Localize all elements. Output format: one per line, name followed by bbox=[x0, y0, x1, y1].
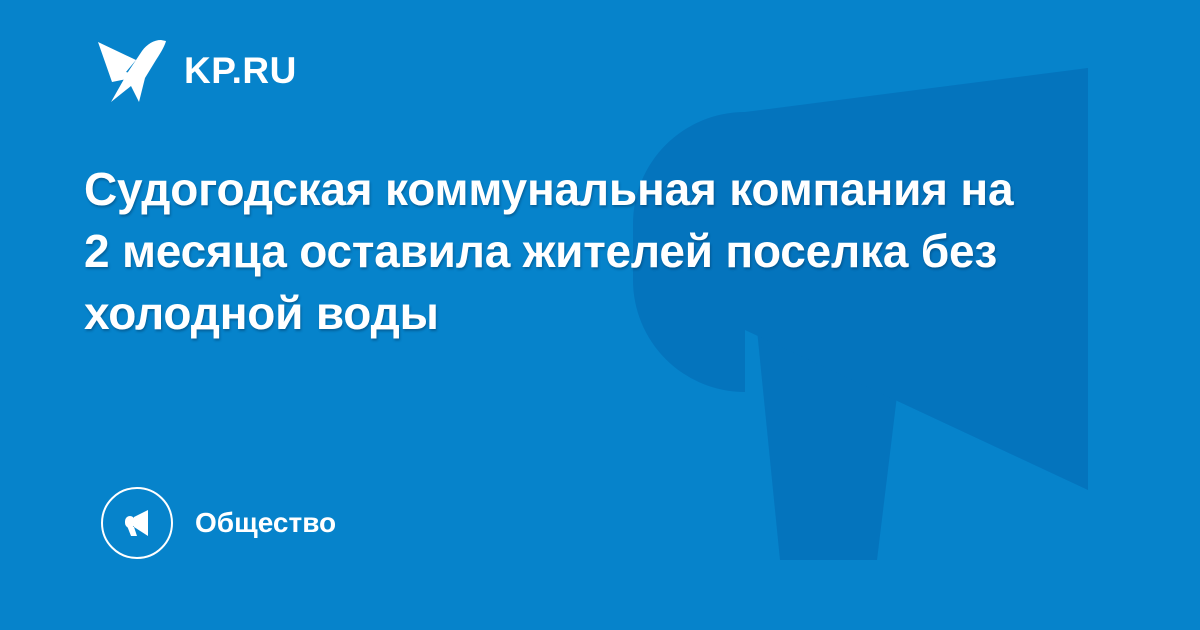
megaphone-icon bbox=[117, 503, 157, 543]
brand-header[interactable]: KP.RU bbox=[98, 34, 297, 106]
category-icon-circle bbox=[101, 487, 173, 559]
social-share-card: KP.RU Судогодская коммунальная компания … bbox=[0, 0, 1200, 630]
swallow-bird-logo-icon bbox=[98, 38, 166, 102]
page-title: Судогодская коммунальная компания на 2 м… bbox=[84, 158, 1019, 344]
category-badge[interactable]: Общество bbox=[101, 487, 336, 559]
category-label: Общество bbox=[195, 509, 336, 537]
brand-name: KP.RU bbox=[184, 52, 297, 89]
